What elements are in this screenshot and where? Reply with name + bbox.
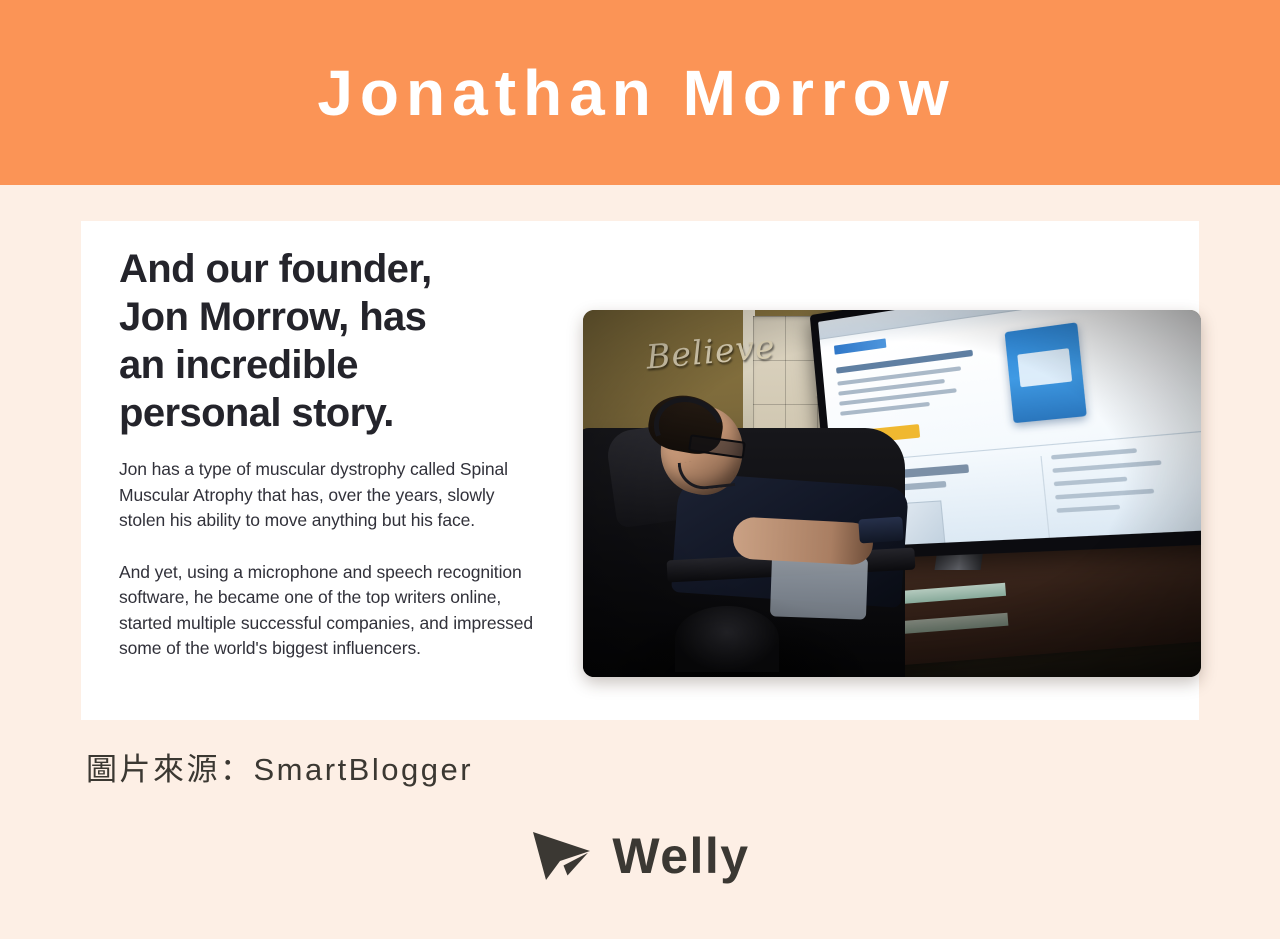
- desk-drawer: [887, 583, 1006, 605]
- desk-drawer: [890, 613, 1009, 635]
- paper-plane-icon: [530, 830, 592, 882]
- wheelchair-joystick: [858, 516, 904, 543]
- story-paragraph-2: And yet, using a microphone and speech r…: [119, 560, 539, 662]
- site-logo: [834, 338, 886, 354]
- story-heading-line-3: an incredible: [119, 341, 539, 389]
- story-heading-line-1: And our founder,: [119, 245, 539, 293]
- story-heading: And our founder, Jon Morrow, has an incr…: [119, 245, 539, 437]
- sidebar-line: [1056, 505, 1120, 513]
- sidebar-line: [1055, 489, 1154, 500]
- slide-page: Jonathan Morrow And our founder, Jon Mor…: [0, 0, 1280, 939]
- person-arm: [732, 516, 874, 565]
- sidebar-line: [1054, 477, 1128, 487]
- sidebar-line: [1051, 448, 1137, 459]
- page-title: Jonathan Morrow: [317, 61, 962, 125]
- sidebar-line: [1052, 460, 1161, 473]
- story-photo: Believe Inspire: [583, 310, 1201, 677]
- text-column: And our founder, Jon Morrow, has an incr…: [119, 245, 539, 662]
- story-heading-line-2: Jon Morrow, has: [119, 293, 539, 341]
- header-band: Jonathan Morrow: [0, 0, 1280, 185]
- story-heading-line-4: personal story.: [119, 389, 539, 437]
- photo-scene: Believe Inspire: [583, 310, 1201, 677]
- site-sidebar: [1040, 446, 1178, 545]
- story-paragraph-1: Jon has a type of muscular dystrophy cal…: [119, 457, 539, 534]
- image-source-caption: 圖片來源：SmartBlogger: [86, 748, 473, 792]
- content-card: And our founder, Jon Morrow, has an incr…: [81, 221, 1199, 720]
- brand-lockup: Welly: [0, 830, 1280, 882]
- site-ebook-graphic: [1005, 322, 1087, 423]
- brand-name: Welly: [612, 831, 749, 881]
- wheelchair-wheel: [675, 606, 779, 672]
